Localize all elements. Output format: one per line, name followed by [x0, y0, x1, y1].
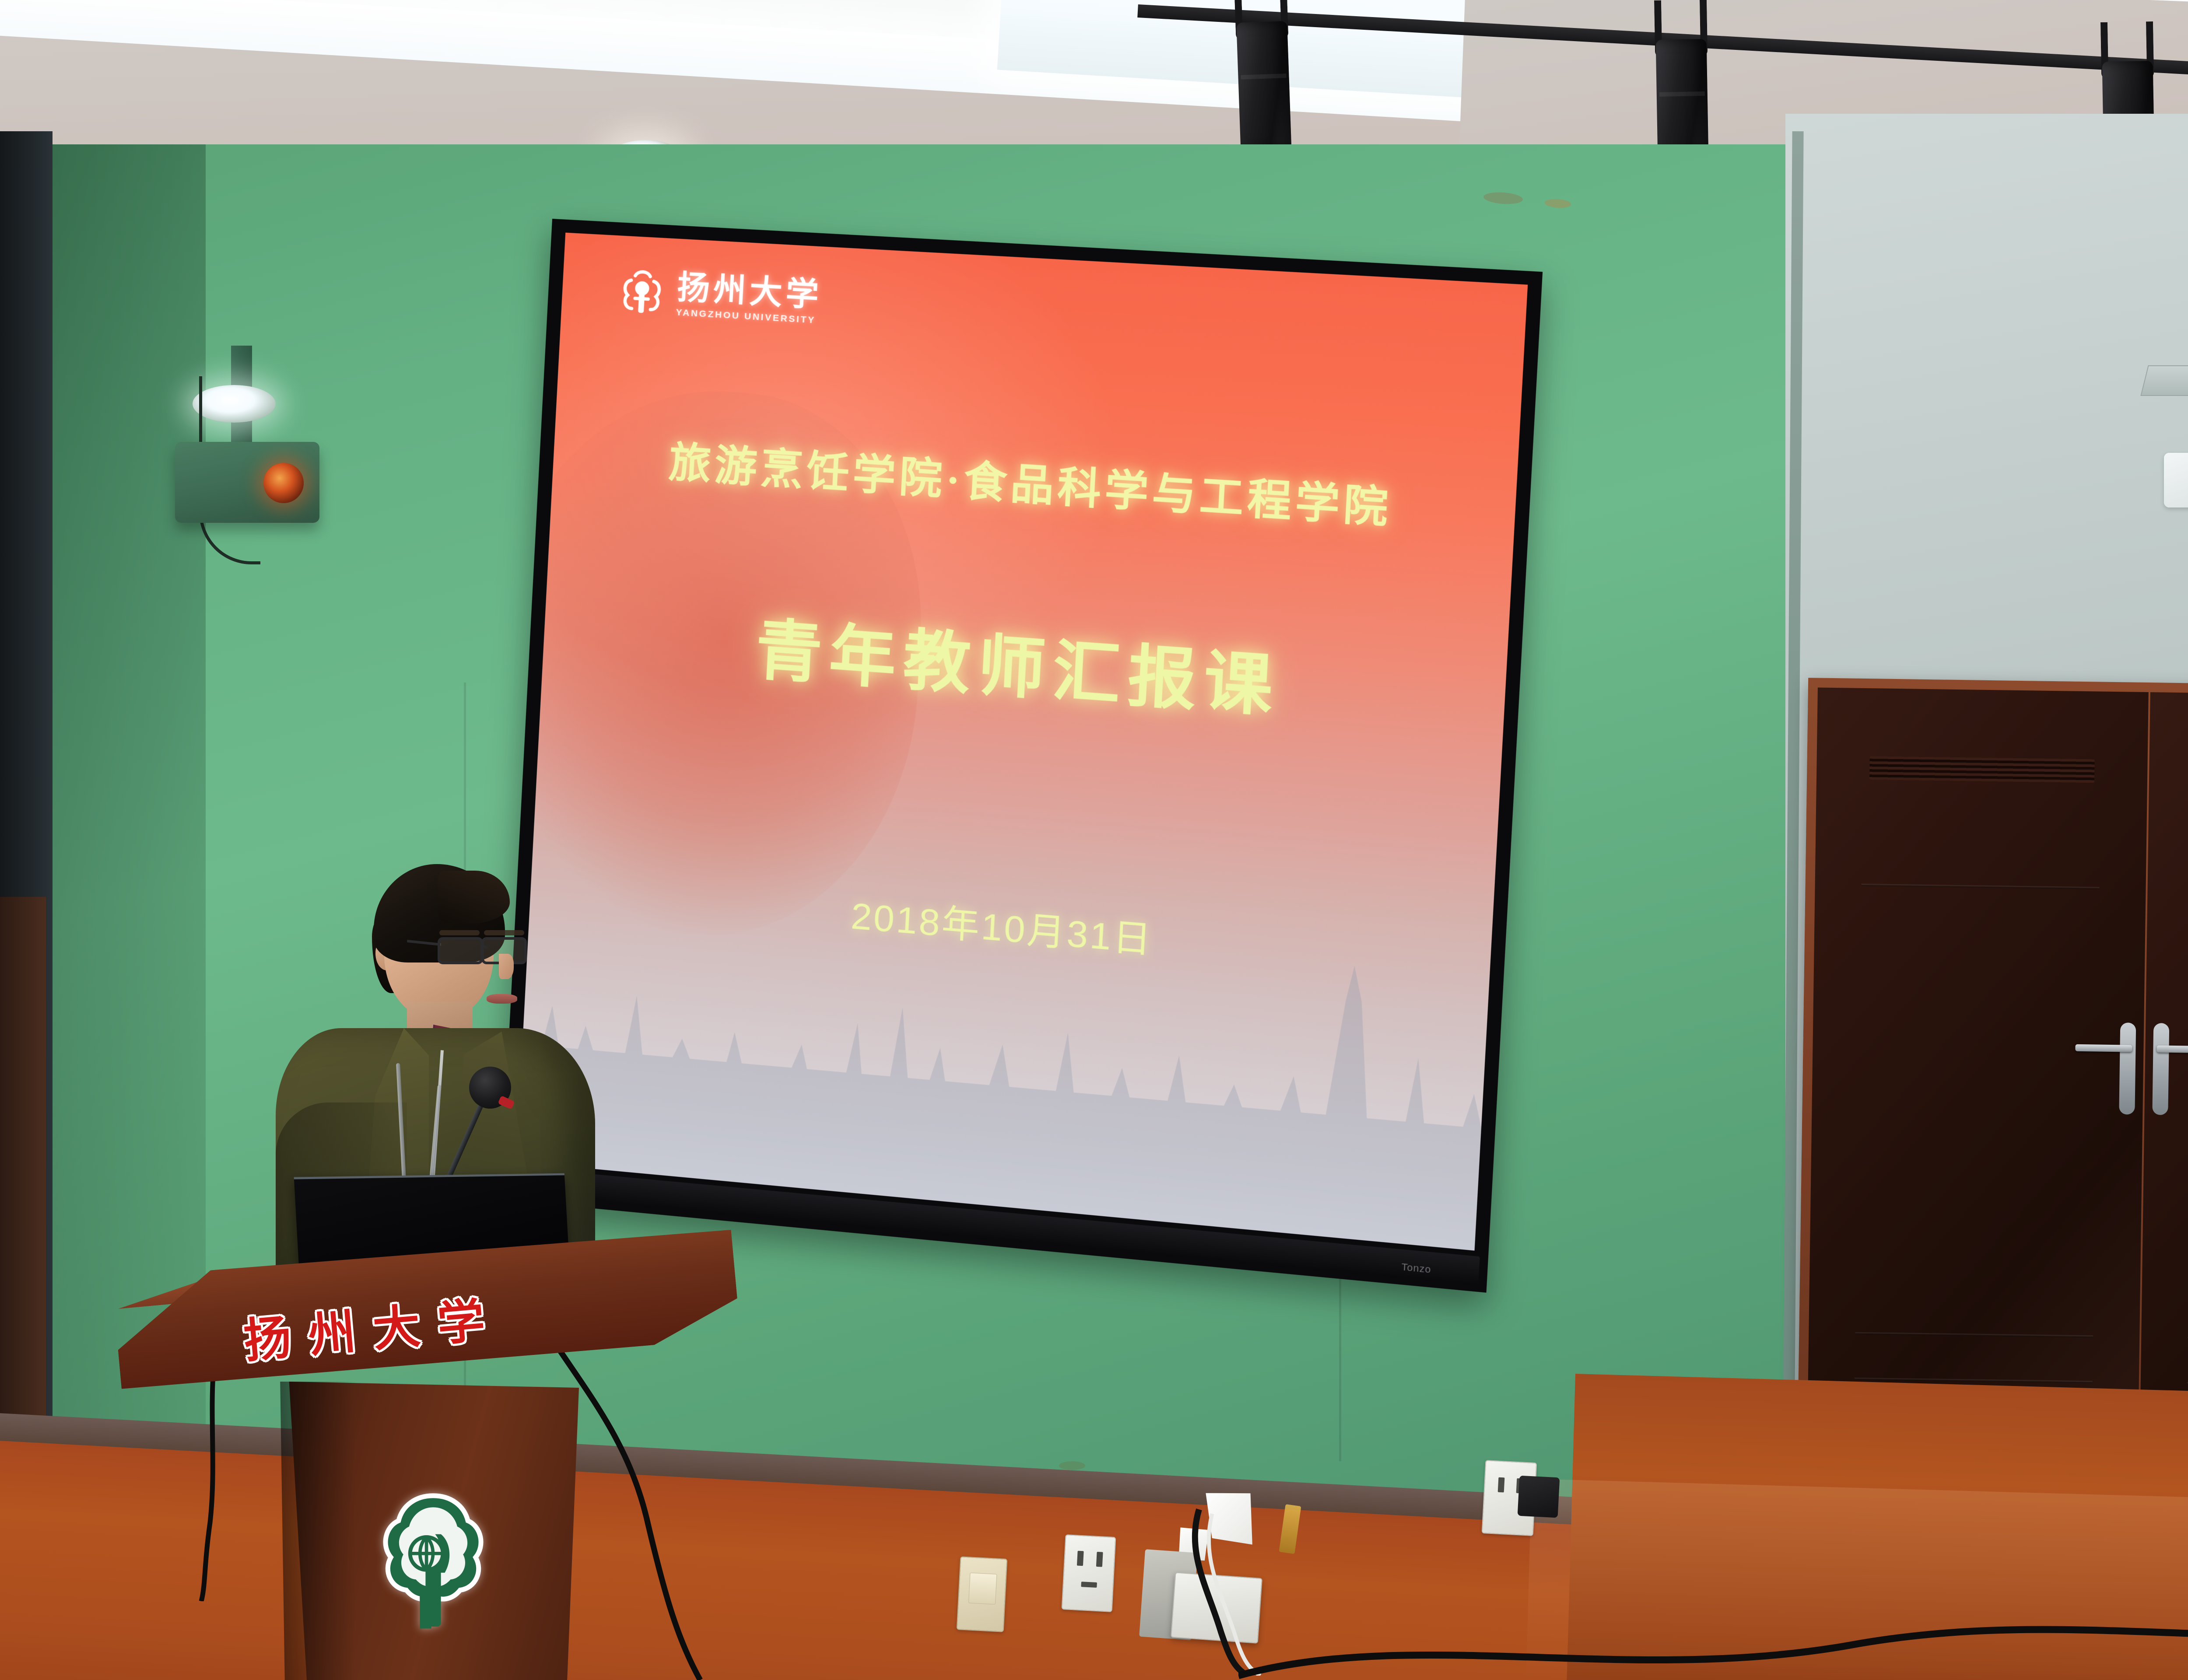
ceiling-projector [175, 442, 319, 523]
door-escutcheon-left [2119, 1022, 2136, 1114]
hair-fringe [438, 871, 510, 923]
door-frame [1798, 678, 2188, 1449]
photo-scene: 扬州大学 YANGZHOU UNIVERSITY 旅游烹饪学院·食品科学与工程学… [0, 0, 2188, 1680]
light-switch[interactable] [957, 1556, 1008, 1632]
floor-cable [1238, 1575, 2188, 1680]
door-escutcheon-right [2152, 1023, 2169, 1115]
wall-mark-1 [1059, 1461, 1085, 1470]
yangzhou-university-tree-emblem-icon [617, 266, 666, 320]
door-louver-left [1869, 756, 2095, 783]
podium-body-shadow [277, 1382, 356, 1680]
door-handle-left[interactable] [2075, 1044, 2132, 1052]
nose [499, 954, 514, 979]
glasses-bridge [480, 946, 487, 948]
projection-screen: 扬州大学 YANGZHOU UNIVERSITY 旅游烹饪学院·食品科学与工程学… [500, 219, 1543, 1293]
slide-logo-cn-text: 扬州大学 [677, 271, 823, 312]
door-leaf-left[interactable] [1807, 687, 2149, 1443]
eyebrow-right [484, 930, 524, 935]
slide-surface: 扬州大学 YANGZHOU UNIVERSITY 旅游烹饪学院·食品科学与工程学… [516, 233, 1528, 1251]
wall-outlet-1[interactable] [1062, 1534, 1116, 1612]
power-adapter-plug [1518, 1476, 1560, 1518]
door-leaf-right[interactable] [2140, 692, 2188, 1448]
glasses-lens-left [438, 937, 483, 964]
podium: 扬州大学 [112, 1260, 733, 1680]
eyebrow-left [439, 930, 480, 935]
air-vent [2140, 365, 2188, 396]
podium-tree-globe-emblem-icon [374, 1492, 492, 1636]
door-handle-right[interactable] [2156, 1046, 2188, 1053]
projector-indicator-light [263, 463, 304, 503]
wall-sensor-panel [2164, 453, 2188, 507]
mouth [487, 994, 517, 1004]
